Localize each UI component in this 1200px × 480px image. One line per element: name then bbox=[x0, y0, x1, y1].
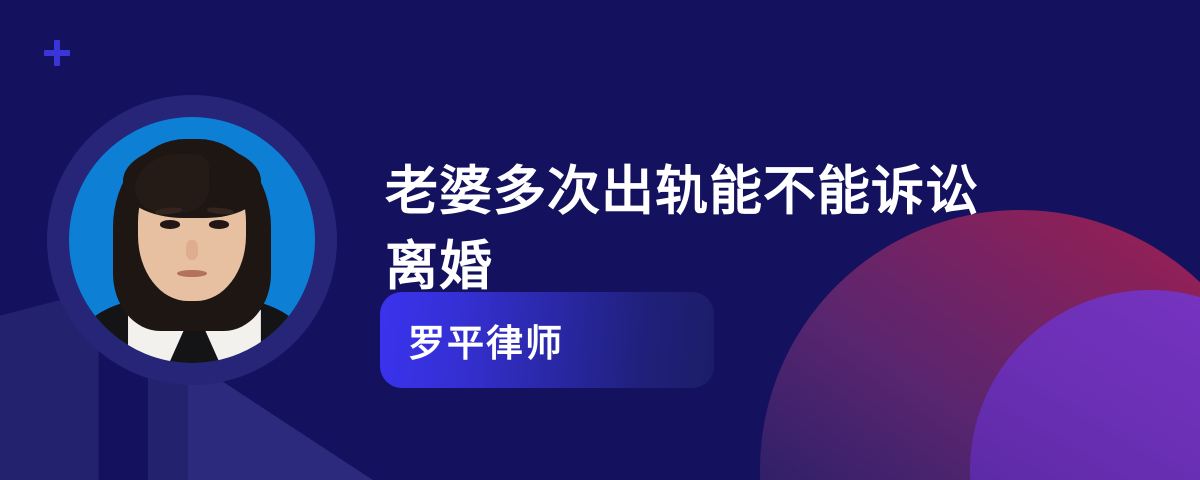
page-title-line-2: 离婚 bbox=[385, 237, 493, 296]
decorative-circle-purple bbox=[970, 290, 1200, 480]
portrait-mouth bbox=[177, 270, 207, 277]
portrait-eye-left bbox=[160, 220, 180, 228]
page-title: 老婆多次出轨能不能诉讼 离婚 bbox=[385, 154, 1085, 305]
lawyer-name-button[interactable]: 罗平律师 bbox=[380, 292, 714, 388]
plus-icon bbox=[44, 40, 70, 66]
portrait-nose bbox=[186, 240, 198, 260]
portrait-eye-right bbox=[209, 220, 229, 228]
lawyer-question-banner: 老婆多次出轨能不能诉讼 离婚 罗平律师 bbox=[0, 0, 1200, 480]
avatar-photo bbox=[69, 117, 315, 363]
page-title-line-1: 老婆多次出轨能不能诉讼 bbox=[385, 162, 979, 221]
avatar bbox=[47, 95, 337, 385]
lawyer-name-button-label: 罗平律师 bbox=[408, 313, 564, 367]
